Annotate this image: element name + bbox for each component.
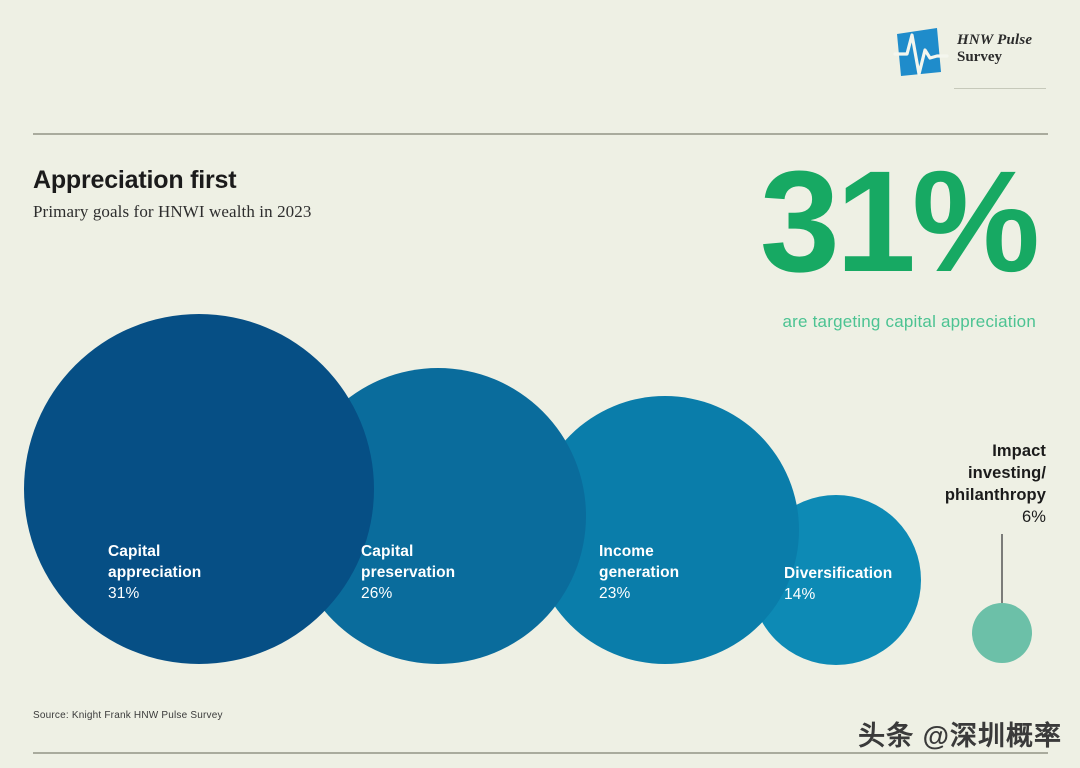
bubble-impact-investing-philanthropy bbox=[972, 603, 1032, 663]
bubble-label-text: Capital preservation bbox=[361, 543, 455, 581]
bubble-label-value: 26% bbox=[361, 583, 455, 604]
bubble-label-income-generation: Income generation23% bbox=[599, 541, 679, 604]
bubble-capital-appreciation bbox=[24, 314, 374, 664]
source-note: Source: Knight Frank HNW Pulse Survey bbox=[33, 710, 223, 721]
impact-label-line-2: investing/ bbox=[968, 464, 1046, 482]
watermark: 头条 @深圳概率 bbox=[858, 714, 1062, 753]
bubble-label-diversification: Diversification14% bbox=[784, 563, 892, 605]
impact-label-line-1: Impact bbox=[992, 442, 1046, 460]
bubble-chart bbox=[0, 0, 1080, 768]
bubble-label-capital-appreciation: Capital appreciation31% bbox=[108, 541, 201, 604]
bubble-label-value: 14% bbox=[784, 584, 892, 605]
infographic-page: HNW Pulse Survey Appreciation first Prim… bbox=[0, 0, 1080, 768]
bubble-label-text: Capital appreciation bbox=[108, 543, 201, 581]
bubble-label-value: 31% bbox=[108, 583, 201, 604]
bubble-label-value: 23% bbox=[599, 583, 679, 604]
impact-label-line-3: philanthropy bbox=[945, 486, 1046, 504]
impact-label-value: 6% bbox=[876, 506, 1046, 528]
bubble-label-text: Diversification bbox=[784, 565, 892, 582]
bubble-label-impact-investing: Impact investing/ philanthropy 6% bbox=[876, 440, 1046, 528]
bubble-label-text: Income generation bbox=[599, 543, 679, 581]
bubble-label-capital-preservation: Capital preservation26% bbox=[361, 541, 455, 604]
